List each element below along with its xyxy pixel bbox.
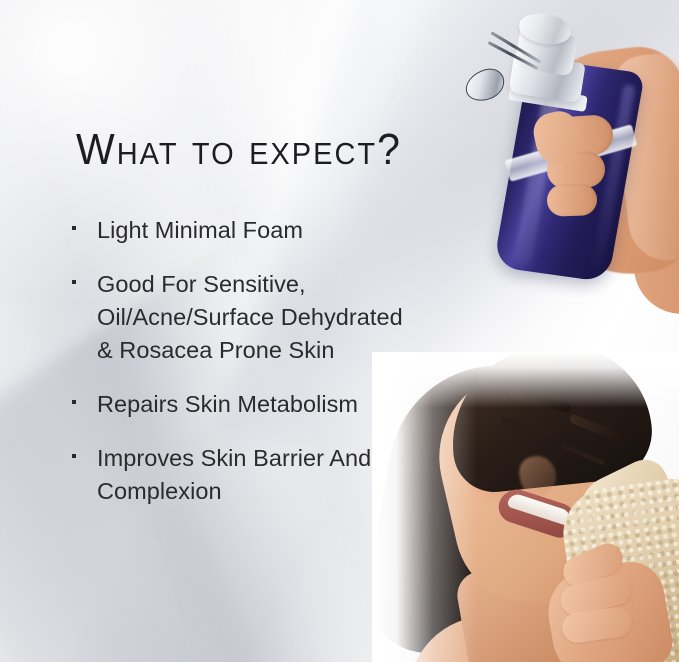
list-item-label: Light Minimal Foam — [97, 214, 498, 247]
spoon-dropper-icon — [457, 38, 543, 110]
page-title: What to expect? — [76, 128, 402, 171]
infographic-canvas: What to expect? Light Minimal Foam Good … — [0, 0, 679, 662]
list-item: Repairs Skin Metabolism — [68, 388, 498, 421]
hand-finger — [546, 183, 597, 217]
bullet-dot-icon — [72, 226, 76, 230]
list-item: Light Minimal Foam — [68, 214, 498, 247]
list-item: Improves Skin Barrier And Complexion — [68, 442, 498, 508]
list-item-label: Improves Skin Barrier And Complexion — [97, 442, 498, 508]
list-item-label: Repairs Skin Metabolism — [97, 388, 498, 421]
bullet-dot-icon — [72, 454, 76, 458]
applicator-bowl — [461, 65, 508, 106]
list-item-label: Good For Sensitive, Oil/Acne/Surface Deh… — [97, 268, 498, 367]
bullet-dot-icon — [72, 400, 76, 404]
list-item: Good For Sensitive, Oil/Acne/Surface Deh… — [68, 268, 498, 367]
bullet-dot-icon — [72, 280, 76, 284]
benefits-list: Light Minimal Foam Good For Sensitive, O… — [68, 214, 498, 508]
